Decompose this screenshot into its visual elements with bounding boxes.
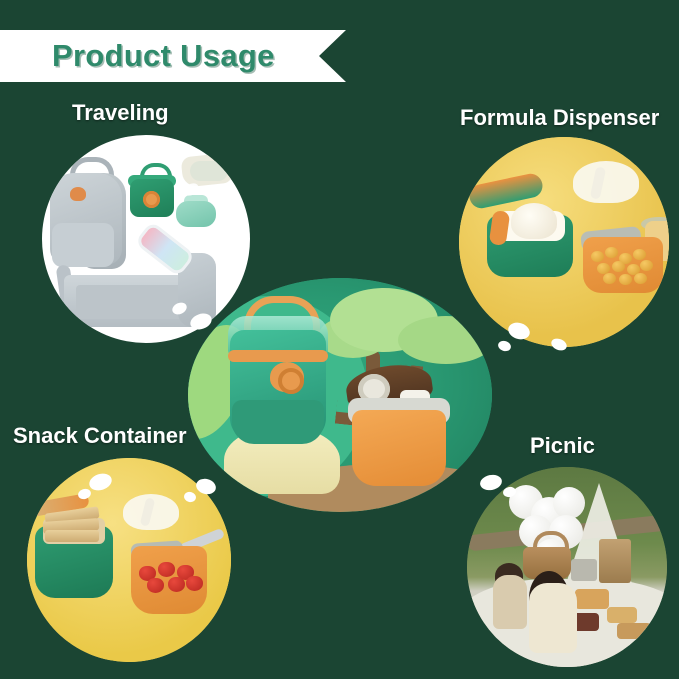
container-base — [232, 400, 324, 444]
snail-latch-icon — [143, 191, 160, 208]
strawberry — [147, 578, 164, 593]
mint-case-body — [176, 201, 216, 227]
balloon — [553, 487, 585, 519]
white-lid-with-spoon — [573, 161, 639, 203]
section-label-picnic: Picnic — [530, 433, 595, 459]
strawberry — [168, 577, 185, 592]
strawberry — [186, 576, 203, 591]
container-orange-ring — [228, 350, 328, 362]
page-title: Product Usage — [52, 38, 275, 74]
section-label-formula-dispenser: Formula Dispenser — [460, 105, 659, 131]
paper-bag — [599, 539, 631, 583]
product-usage-poster: Product Usage Traveling Formula Dispense… — [0, 0, 679, 679]
center-product-scene — [188, 278, 492, 512]
child-figure — [493, 575, 527, 629]
snail-spiral-icon — [278, 368, 304, 394]
orange-product-container — [352, 410, 446, 486]
photo-circle-picnic — [467, 467, 667, 667]
cutting-board — [617, 623, 651, 639]
backpack-logo-tag — [70, 187, 86, 201]
tree-canopy — [398, 316, 492, 364]
backpack-pocket — [52, 223, 114, 267]
section-label-snack-container: Snack Container — [13, 423, 187, 449]
section-label-traveling: Traveling — [72, 100, 169, 126]
wafer-biscuit — [45, 530, 99, 542]
baby-wipes-sheet — [190, 161, 228, 181]
formula-powder — [511, 203, 557, 239]
food-tray — [575, 589, 609, 609]
banner-ribbon: Product Usage — [0, 30, 346, 82]
strawberry — [158, 562, 175, 577]
picnic-box — [571, 559, 597, 581]
bread — [607, 607, 637, 623]
snack-nuts-group — [589, 245, 655, 285]
child-figure — [529, 583, 577, 653]
